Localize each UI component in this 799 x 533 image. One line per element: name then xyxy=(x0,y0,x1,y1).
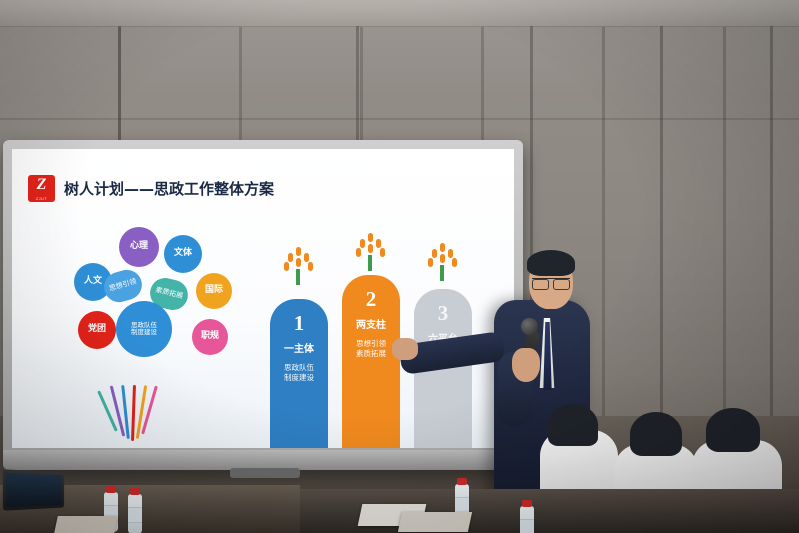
leaf xyxy=(288,253,293,262)
bubble-label: 党团 xyxy=(88,325,106,334)
tree-trunk xyxy=(368,255,372,271)
speaker-hair xyxy=(527,250,575,276)
bottle-cap xyxy=(106,486,116,493)
bottle-cap xyxy=(130,488,140,495)
root-graphic xyxy=(72,385,192,447)
bubble-label: 文体 xyxy=(174,249,192,258)
water-bottle[interactable] xyxy=(128,494,142,533)
slide-title: 树人计划——思政工作整体方案 xyxy=(64,178,274,199)
leaf xyxy=(440,243,445,252)
display-screen: Z ZJUT 树人计划——思政工作整体方案 心理 文体 人文 xyxy=(12,149,514,448)
speaker-mic-hand xyxy=(512,348,540,382)
laptop-device[interactable] xyxy=(3,469,64,510)
leaf xyxy=(440,254,445,263)
audience-member-3-hair xyxy=(706,408,760,452)
leaf xyxy=(296,258,301,267)
wall-display[interactable]: Z ZJUT 树人计划——思政工作整体方案 心理 文体 人文 xyxy=(3,140,523,470)
bottle-cap xyxy=(457,478,467,485)
speaker-pointing-hand xyxy=(392,338,418,360)
column-title: 两支柱 xyxy=(342,320,400,332)
podium-column-1: 1 一主体 思政队伍 制度建设 xyxy=(270,299,328,448)
bubble-dangtuan: 党团 xyxy=(78,311,116,349)
tree-trunk xyxy=(296,269,300,285)
bottle-label xyxy=(455,497,469,513)
bubble-core-label: 思政队伍 制度建设 xyxy=(131,322,157,337)
leaf xyxy=(428,258,433,267)
bottle-label xyxy=(128,507,142,523)
conference-room-photo: Z ZJUT 树人计划——思政工作整体方案 心理 文体 人文 xyxy=(0,0,799,533)
logo-subtext: ZJUT xyxy=(28,196,55,201)
column-number: 1 xyxy=(270,311,328,336)
document-sheet[interactable] xyxy=(398,512,472,532)
root-strand xyxy=(131,385,136,441)
microphone-head-icon[interactable] xyxy=(521,318,538,335)
leaf xyxy=(296,247,301,256)
tree-trunk xyxy=(440,265,444,281)
leaf xyxy=(368,244,373,253)
bubble-cluster: 心理 文体 人文 国际 党团 职规 xyxy=(64,227,254,407)
wall-seam xyxy=(660,26,663,426)
bubble-guoji: 国际 xyxy=(196,273,232,309)
bubble-zhigui: 职规 xyxy=(192,319,228,355)
bubble-core: 思政队伍 制度建设 xyxy=(116,301,172,357)
bubble-label: 国际 xyxy=(205,286,223,295)
wall-seam xyxy=(770,26,773,426)
speaker-glasses xyxy=(532,278,570,289)
z-logo-icon: Z ZJUT xyxy=(28,175,55,202)
podium-column-2: 2 两支柱 思想引领 素质拓展 xyxy=(342,275,400,448)
leaf xyxy=(356,248,361,257)
leaf xyxy=(376,239,381,248)
leaf xyxy=(308,262,313,271)
logo-letter: Z xyxy=(28,176,55,194)
leaf xyxy=(448,249,453,258)
leaf xyxy=(432,249,437,258)
presentation-slide: Z ZJUT 树人计划——思政工作整体方案 心理 文体 人文 xyxy=(12,149,514,448)
leaf xyxy=(452,258,457,267)
tree-icon xyxy=(274,241,326,285)
display-stand xyxy=(230,468,300,478)
audience-member-2-hair xyxy=(630,412,682,456)
audience-member-1-hair xyxy=(548,404,598,446)
bubble-label: 人文 xyxy=(84,277,102,286)
bubble-label: 心理 xyxy=(130,242,148,251)
bubble-label: 素质拓展 xyxy=(155,287,184,301)
bottle-label xyxy=(520,519,534,533)
display-bottom-bar xyxy=(3,450,523,470)
water-bottle[interactable] xyxy=(520,506,534,533)
leaf xyxy=(284,262,289,271)
leaf xyxy=(368,233,373,242)
laptop-screen xyxy=(6,473,61,508)
leaf xyxy=(360,239,365,248)
column-title: 一主体 xyxy=(270,344,328,356)
bubble-label: 思想引领 xyxy=(109,279,138,294)
slide-header: Z ZJUT 树人计划——思政工作整体方案 xyxy=(28,175,274,202)
document-sheet[interactable] xyxy=(54,516,118,533)
bubble-label: 职规 xyxy=(201,332,219,341)
ceiling-band xyxy=(0,0,799,27)
bubble-wenti: 文体 xyxy=(164,235,202,273)
leaf xyxy=(304,253,309,262)
column-subtitle: 思政队伍 制度建设 xyxy=(270,363,328,383)
tree-icon xyxy=(418,237,470,281)
bottle-cap xyxy=(522,500,532,507)
tree-icon xyxy=(346,227,398,271)
column-number: 2 xyxy=(342,287,400,312)
column-number: 3 xyxy=(414,301,472,326)
leaf xyxy=(380,248,385,257)
wall-seam xyxy=(0,118,799,120)
bubble-xinli: 心理 xyxy=(119,227,159,267)
